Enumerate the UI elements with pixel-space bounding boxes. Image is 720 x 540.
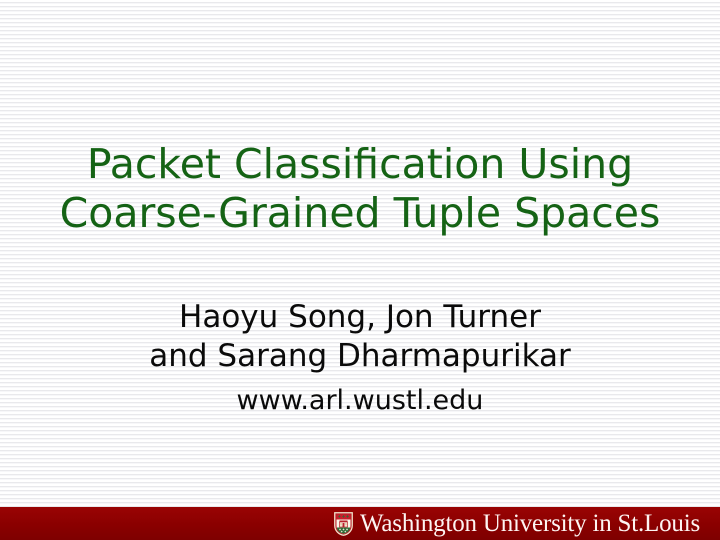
slide-title: Packet Classification Using Coarse-Grain… xyxy=(0,140,720,238)
footer-bar: Washington University in St.Louis xyxy=(0,507,720,540)
author-line-2: and Sarang Dharmapurikar xyxy=(0,337,720,376)
wustl-logo: Washington University in St.Louis xyxy=(334,511,700,536)
title-line-1: Packet Classification Using xyxy=(0,140,720,189)
author-line-1: Haoyu Song, Jon Turner xyxy=(0,298,720,337)
title-line-2: Coarse-Grained Tuple Spaces xyxy=(0,189,720,238)
slide-subtitle: Haoyu Song, Jon Turner and Sarang Dharma… xyxy=(0,298,720,421)
wustl-wordmark: Washington University in St.Louis xyxy=(360,511,700,536)
wustl-shield-icon xyxy=(334,512,353,536)
presentation-slide: Packet Classification Using Coarse-Grain… xyxy=(0,0,720,540)
website-url: www.arl.wustl.edu xyxy=(0,381,720,421)
